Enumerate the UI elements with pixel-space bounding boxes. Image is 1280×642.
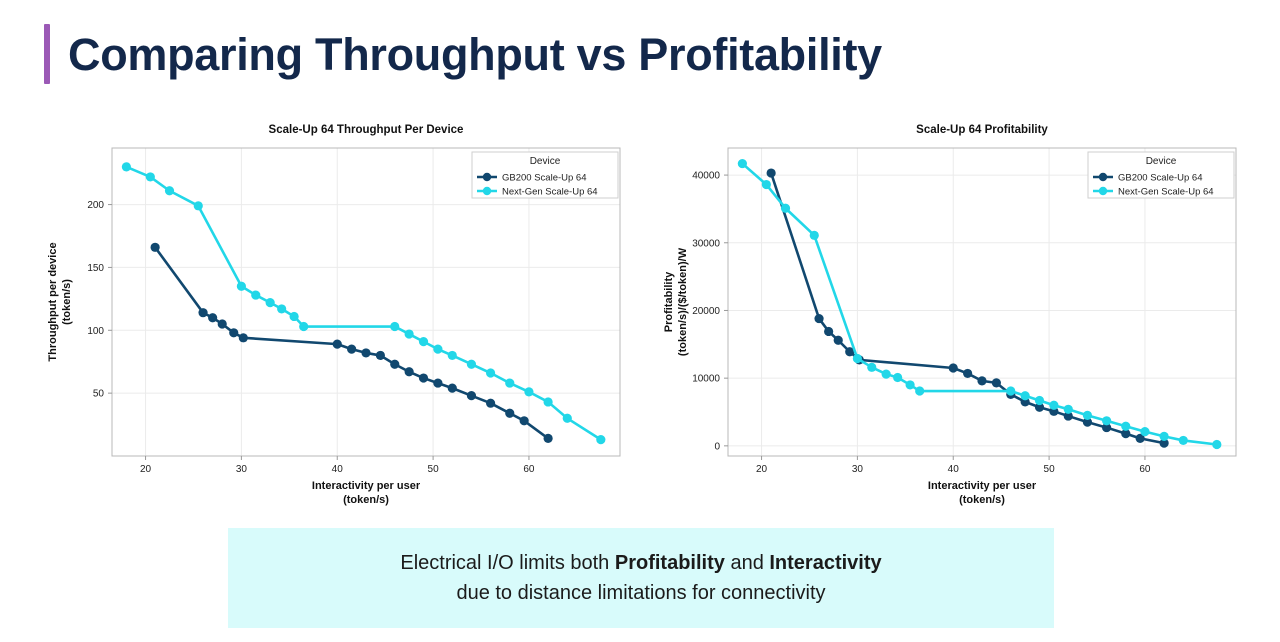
series-line	[155, 247, 548, 438]
x-tick-label: 40	[332, 464, 344, 475]
data-point	[333, 340, 342, 349]
x-tick-label: 60	[523, 464, 535, 475]
y-tick-label: 0	[714, 441, 720, 452]
slide-title-row: Comparing Throughput vs Profitability	[44, 18, 882, 90]
y-tick-label: 20000	[692, 306, 720, 317]
data-point	[992, 378, 1001, 387]
data-point	[390, 322, 399, 331]
y-tick-label: 40000	[692, 171, 720, 182]
data-point	[906, 380, 915, 389]
y-tick-label: 50	[93, 389, 105, 400]
y-axis-label: Profitability	[663, 271, 675, 332]
x-axis-label-units: (token/s)	[343, 494, 389, 506]
data-point	[299, 322, 308, 331]
y-tick-label: 200	[87, 200, 104, 211]
data-point	[1179, 436, 1188, 445]
x-tick-label: 20	[756, 464, 768, 475]
data-point	[882, 369, 891, 378]
chart-title: Scale-Up 64 Throughput Per Device	[269, 124, 464, 136]
caption-line-1: Electrical I/O limits both Profitability…	[400, 548, 881, 578]
data-point	[963, 369, 972, 378]
data-point	[448, 384, 457, 393]
legend-swatch-dot	[1099, 187, 1107, 195]
data-point	[810, 231, 819, 240]
data-point	[1121, 422, 1130, 431]
data-point	[814, 314, 823, 323]
chart-title: Scale-Up 64 Profitability	[916, 124, 1048, 136]
x-tick-label: 20	[140, 464, 152, 475]
data-point	[949, 363, 958, 372]
data-point	[738, 159, 747, 168]
data-point	[1083, 411, 1092, 420]
legend-item-label: Next-Gen Scale-Up 64	[1118, 186, 1214, 197]
data-point	[824, 327, 833, 336]
data-point	[853, 354, 862, 363]
y-tick-label: 10000	[692, 374, 720, 385]
x-tick-label: 50	[1044, 464, 1056, 475]
y-axis-label-units: (token/s)/($/token)/W	[677, 247, 689, 356]
x-axis-label: Interactivity per user	[312, 480, 421, 492]
data-point	[1140, 427, 1149, 436]
data-point	[146, 172, 155, 181]
data-point	[194, 201, 203, 210]
y-axis-label-units: (token/s)	[61, 279, 73, 325]
data-point	[198, 308, 207, 317]
data-point	[151, 243, 160, 252]
data-point	[229, 328, 238, 337]
legend-title: Device	[1146, 156, 1177, 167]
caption-text-mid: and	[725, 552, 769, 574]
y-tick-label: 150	[87, 263, 104, 274]
y-axis-label: Throughput per device	[47, 242, 59, 361]
data-point	[1049, 401, 1058, 410]
data-point	[834, 336, 843, 345]
data-point	[1021, 391, 1030, 400]
data-point	[218, 319, 227, 328]
data-point	[433, 378, 442, 387]
data-point	[390, 360, 399, 369]
data-point	[290, 312, 299, 321]
data-point	[1160, 432, 1169, 441]
data-point	[467, 391, 476, 400]
data-point	[977, 376, 986, 385]
data-point	[1006, 386, 1015, 395]
data-point	[239, 333, 248, 342]
legend-title: Device	[530, 156, 561, 167]
data-point	[448, 351, 457, 360]
data-point	[867, 363, 876, 372]
data-point	[915, 386, 924, 395]
data-point	[1212, 440, 1221, 449]
caption-box: Electrical I/O limits both Profitability…	[228, 528, 1054, 628]
data-point	[467, 360, 476, 369]
legend-item-label: GB200 Scale-Up 64	[502, 172, 587, 183]
data-point	[505, 378, 514, 387]
y-tick-label: 30000	[692, 238, 720, 249]
legend-item-label: GB200 Scale-Up 64	[1118, 172, 1203, 183]
legend-swatch-dot	[1099, 173, 1107, 181]
x-tick-label: 60	[1139, 464, 1151, 475]
data-point	[376, 351, 385, 360]
data-point	[165, 186, 174, 195]
caption-text-pre: Electrical I/O limits both	[400, 552, 615, 574]
data-point	[544, 434, 553, 443]
data-point	[208, 313, 217, 322]
chart-svg-profitability: Scale-Up 64 Profitability010000200003000…	[650, 118, 1250, 518]
series-line	[771, 173, 1164, 443]
x-axis-label-units: (token/s)	[959, 494, 1005, 506]
x-axis-label: Interactivity per user	[928, 480, 1037, 492]
data-point	[237, 282, 246, 291]
page-title: Comparing Throughput vs Profitability	[68, 32, 882, 77]
chart-svg-throughput: Scale-Up 64 Throughput Per Device5010015…	[34, 118, 634, 518]
data-point	[419, 337, 428, 346]
x-tick-label: 50	[428, 464, 440, 475]
x-tick-label: 30	[852, 464, 864, 475]
chart-panel-throughput: Scale-Up 64 Throughput Per Device5010015…	[34, 118, 634, 518]
data-point	[762, 180, 771, 189]
data-point	[520, 416, 529, 425]
legend-item-label: Next-Gen Scale-Up 64	[502, 186, 598, 197]
caption-line-2: due to distance limitations for connecti…	[456, 578, 825, 608]
data-point	[505, 409, 514, 418]
data-point	[361, 348, 370, 357]
data-point	[893, 373, 902, 382]
data-point	[122, 162, 131, 171]
data-point	[486, 399, 495, 408]
data-point	[251, 290, 260, 299]
x-tick-label: 40	[948, 464, 960, 475]
data-point	[277, 304, 286, 313]
data-point	[544, 397, 553, 406]
slide-root: Comparing Throughput vs Profitability Sc…	[0, 0, 1280, 642]
chart-panel-profitability: Scale-Up 64 Profitability010000200003000…	[650, 118, 1250, 518]
data-point	[1102, 416, 1111, 425]
data-point	[266, 298, 275, 307]
x-tick-label: 30	[236, 464, 248, 475]
data-point	[405, 367, 414, 376]
data-point	[486, 368, 495, 377]
data-point	[433, 345, 442, 354]
data-point	[524, 387, 533, 396]
legend-swatch-dot	[483, 187, 491, 195]
legend-swatch-dot	[483, 173, 491, 181]
title-accent-bar	[44, 24, 50, 84]
data-point	[419, 373, 428, 382]
data-point	[347, 345, 356, 354]
caption-bold-profitability: Profitability	[615, 552, 725, 574]
data-point	[596, 435, 605, 444]
data-point	[781, 204, 790, 213]
data-point	[563, 414, 572, 423]
data-point	[767, 168, 776, 177]
caption-bold-interactivity: Interactivity	[769, 552, 881, 574]
y-tick-label: 100	[87, 326, 104, 337]
data-point	[1035, 396, 1044, 405]
data-point	[405, 329, 414, 338]
data-point	[1064, 405, 1073, 414]
